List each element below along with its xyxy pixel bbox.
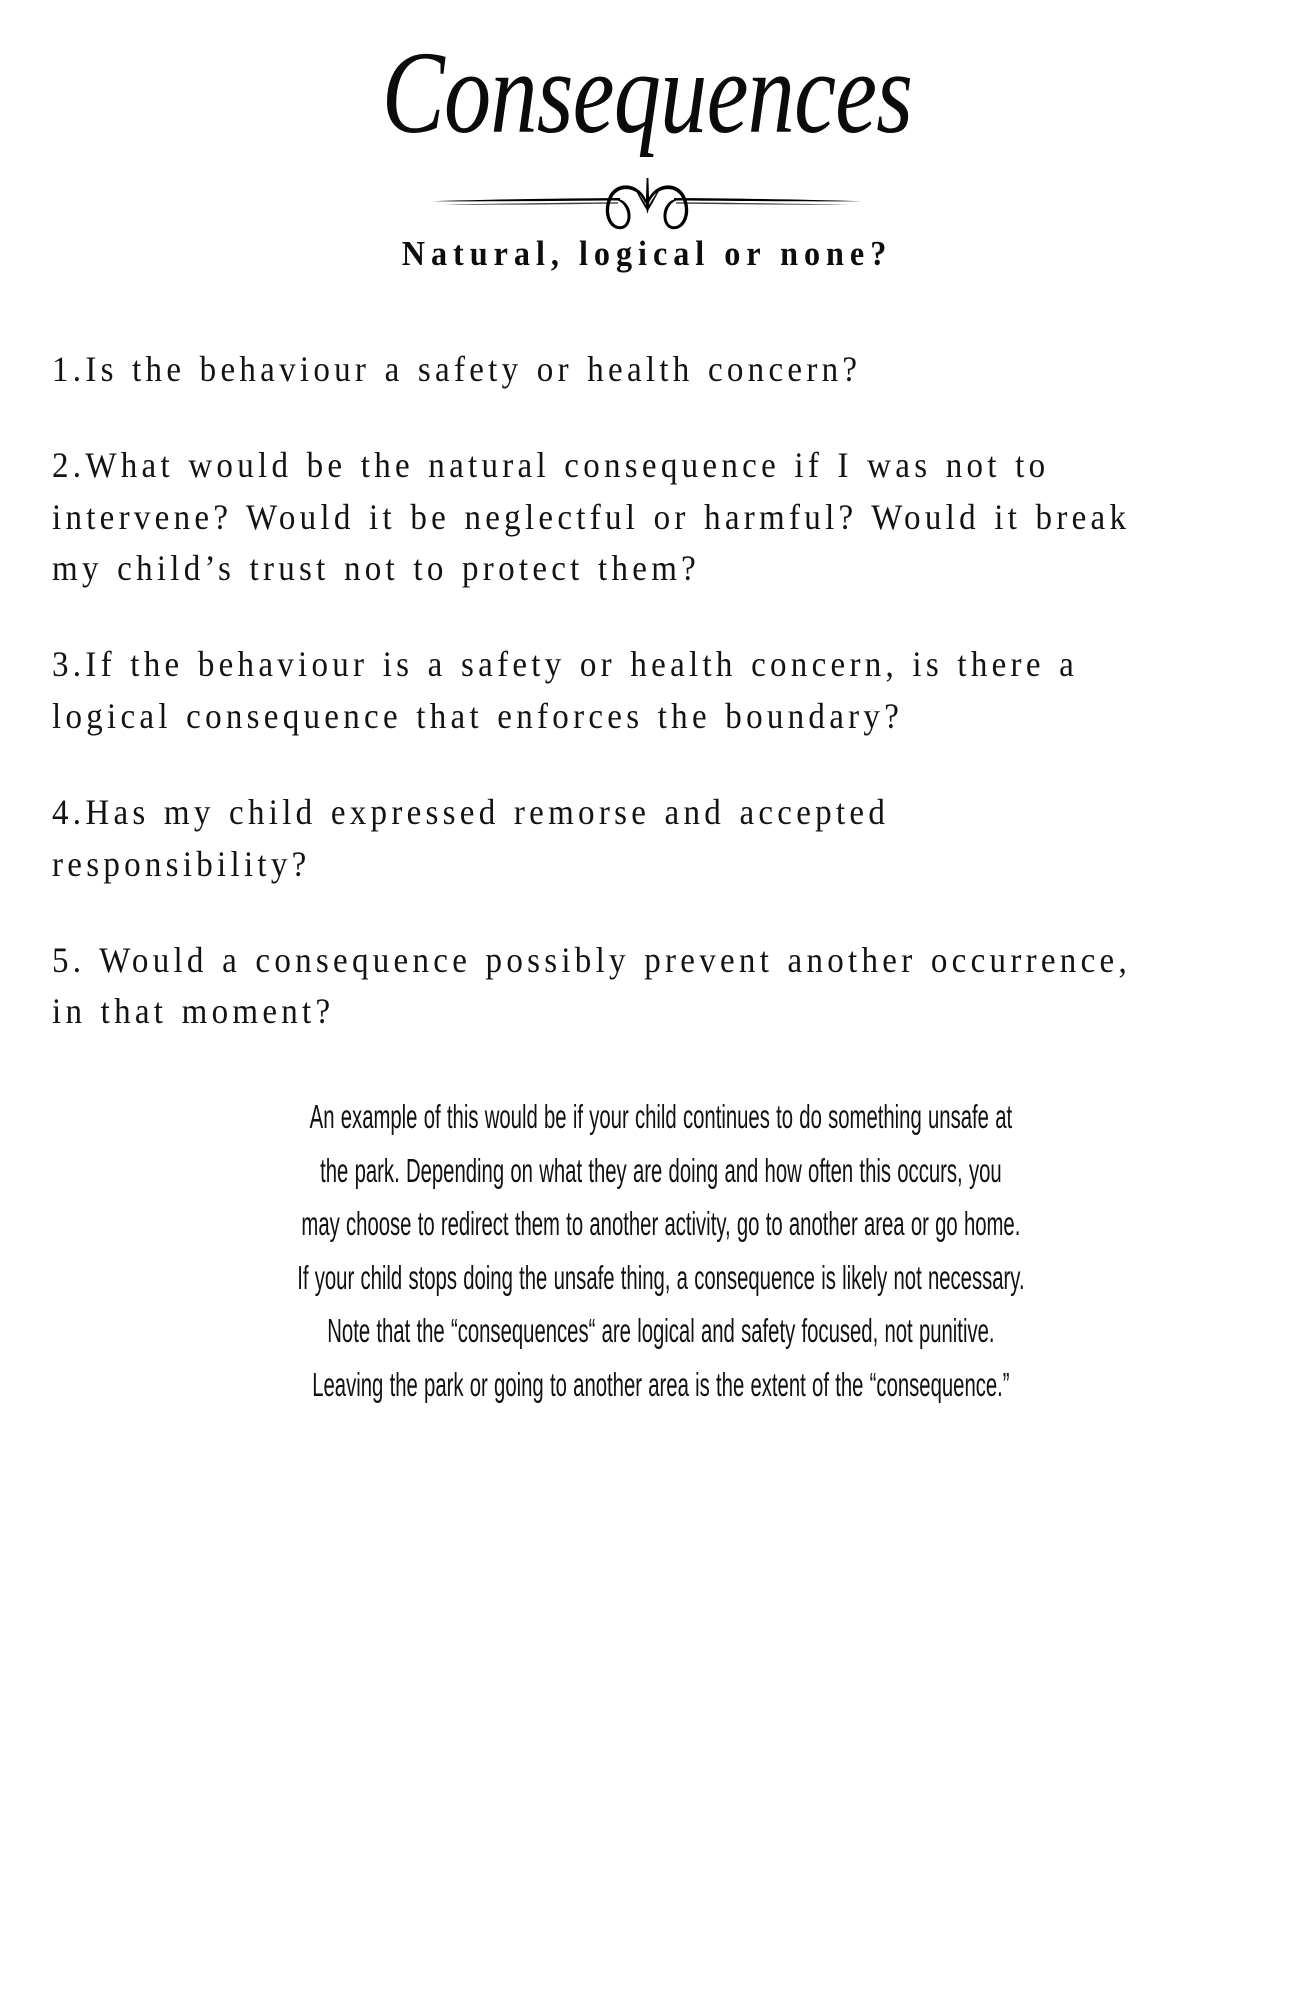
page-subtitle: Natural, logical or none? [100,234,1195,274]
note-line: Leaving the park or going to another are… [68,1358,1254,1411]
closing-note: An example of this would be if your chil… [60,1090,1263,1411]
question-list: 1.Is the behaviour a safety or health co… [52,344,1242,1038]
question-item: 4.Has my child expressed remorse and acc… [52,787,1159,891]
question-item: 5. Would a consequence possibly prevent … [52,935,1159,1039]
page-title: Consequences [171,0,1123,152]
question-item: 1.Is the behaviour a safety or health co… [52,344,1159,396]
note-line: An example of this would be if your chil… [68,1090,1254,1143]
question-item: 3.If the behaviour is a safety or health… [52,639,1159,743]
note-line: the park. Depending on what they are doi… [68,1144,1254,1197]
note-line: If your child stops doing the unsafe thi… [68,1251,1254,1304]
note-line: may choose to redirect them to another a… [68,1197,1254,1250]
note-line: Note that the “consequences“ are logical… [68,1304,1254,1357]
ornamental-flourish-divider-icon [52,174,1242,230]
worksheet-page: Consequences Natural, logical or none? 1… [0,0,1294,2000]
question-item: 2.What would be the natural consequence … [52,440,1159,595]
